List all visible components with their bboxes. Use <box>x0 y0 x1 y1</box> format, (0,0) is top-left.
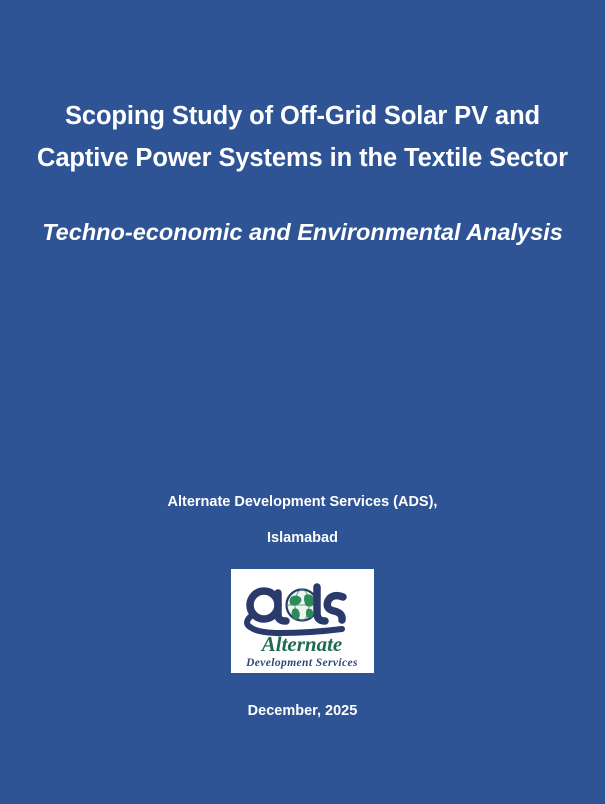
logo-tagline-script: Development Services <box>245 657 358 669</box>
ads-logo-icon: Alternate Development Services <box>231 569 374 673</box>
organisation-city: Islamabad <box>0 520 605 556</box>
title-line-1: Scoping Study of Off-Grid Solar PV and <box>0 95 605 137</box>
logo-letter-d <box>287 587 326 621</box>
document-subtitle: Techno-economic and Environmental Analys… <box>0 215 605 249</box>
document-title: Scoping Study of Off-Grid Solar PV and C… <box>0 95 605 179</box>
organisation-name: Alternate Development Services (ADS), <box>0 484 605 520</box>
date-text: December, 2025 <box>0 700 605 722</box>
logo-name-script: Alternate <box>260 632 343 656</box>
organisation-block: Alternate Development Services (ADS), Is… <box>0 484 605 556</box>
organisation-logo: Alternate Development Services <box>231 569 374 673</box>
subtitle-text: Techno-economic and Environmental Analys… <box>0 215 605 249</box>
title-line-2: Captive Power Systems in the Textile Sec… <box>0 137 605 179</box>
document-cover-page: Scoping Study of Off-Grid Solar PV and C… <box>0 0 605 804</box>
publication-date: December, 2025 <box>0 700 605 722</box>
